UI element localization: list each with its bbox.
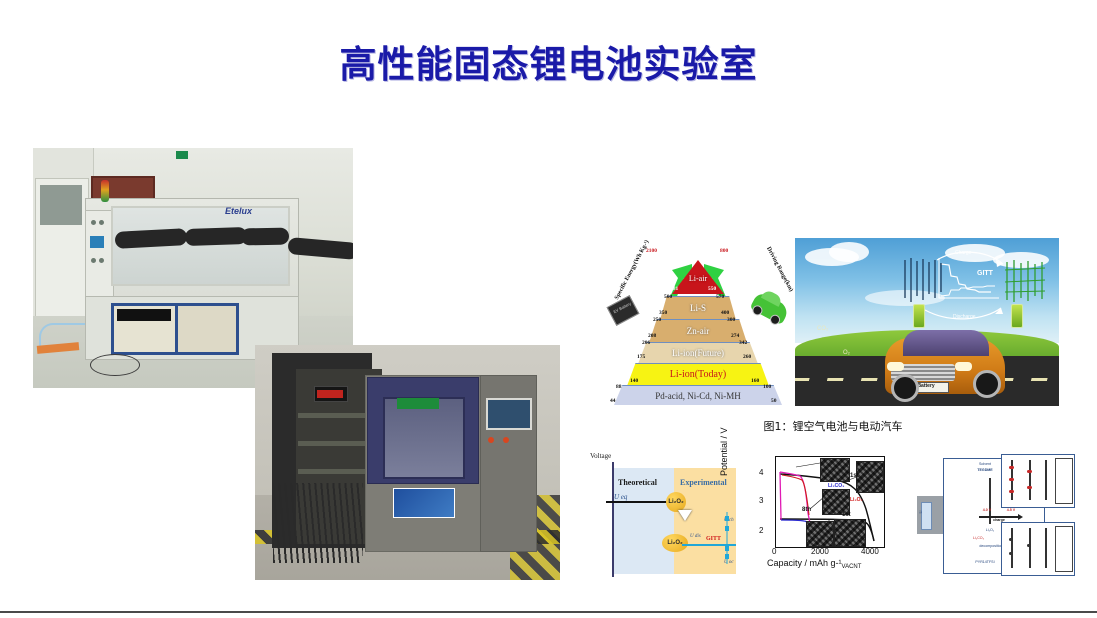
sem-inset <box>856 461 884 493</box>
deposit-marker <box>1009 538 1013 541</box>
slide-bottom-rule <box>0 611 1097 613</box>
voltage-high-label: 4.5 V <box>1001 508 1021 512</box>
pyramid-level-5: Pd-acid, Ni-Cd, Ni-MH <box>614 385 782 405</box>
knob-icon <box>91 258 96 263</box>
deposit-marker <box>1027 486 1032 489</box>
curve-label-1st: 1st <box>850 473 859 479</box>
level-0-right-value: 550 <box>708 286 716 292</box>
level-2-left-top: 250 <box>653 317 661 323</box>
charge-label: charge <box>979 518 1019 522</box>
pyramid-level-label-3: Li-ion(Future) <box>672 348 724 358</box>
plot-x-axis-label: Capacity / mAh g-¹VACNT <box>767 558 861 570</box>
slide-root: 高性能固态锂电池实验室 Etelux <box>0 0 1097 618</box>
level-5-right-top: 100 <box>763 384 771 390</box>
equipment-module <box>175 303 239 355</box>
li2o2-bubble-bottom: Li₂O₂ <box>662 534 688 552</box>
ueq-label: U eq <box>614 493 627 501</box>
deposit-marker <box>1009 478 1014 481</box>
level-4-left: 140 <box>630 378 638 384</box>
co2-label: CO₂ <box>817 326 828 332</box>
transition-arrow-icon <box>678 510 692 521</box>
pyramid-level-label-4: Li-ion(Today) <box>670 369 727 380</box>
deposit-marker <box>1027 544 1031 547</box>
glove-port <box>241 228 289 246</box>
plot-area: 1st 8th 1st Li₂CO₃ Li₂O₂ <box>775 456 885 548</box>
level-1-left-top: 500 <box>664 294 672 300</box>
plot-x-axis-main: Capacity / mAh g-¹ <box>767 558 842 568</box>
level-3-left-top: 206 <box>642 340 650 346</box>
deposit-marker <box>1027 470 1032 473</box>
potential-capacity-plot: Potential / V 4 3 2 0 2000 4000 Capacity… <box>745 448 900 580</box>
level-5-left-top: 88 <box>616 384 622 390</box>
level-5-right: 50 <box>771 398 777 404</box>
knob-icon <box>91 220 96 225</box>
equilibrium-line <box>606 501 672 503</box>
level-1-left: 350 <box>659 310 667 316</box>
nanotube-forest-green-icon <box>1003 260 1047 302</box>
power-cord <box>90 354 140 376</box>
level-3-left: 175 <box>637 354 645 360</box>
x-tick-2000: 2000 <box>811 547 829 556</box>
pyramid-level-label-0: Li-air <box>689 274 707 283</box>
cnt-rod <box>1029 528 1031 568</box>
cycle-mini-chart <box>1055 458 1073 504</box>
level-4-right: 160 <box>751 378 759 384</box>
nanotube-forest-icon <box>901 258 947 306</box>
x-tick-4000: 4000 <box>861 547 879 556</box>
chamber-touch-screen <box>486 398 532 430</box>
glovebox-display <box>90 236 104 248</box>
knob-icon <box>99 220 104 225</box>
voltage-low-label: 4.0 V <box>977 508 997 512</box>
test-chamber-photo <box>255 345 560 580</box>
species-label-li2o2: Li₂O₂ <box>850 497 863 503</box>
figure-caption: 图1：锂空气电池与电动汽车 <box>608 418 1058 434</box>
y-tick-2: 2 <box>759 526 763 535</box>
rack-display <box>314 386 348 402</box>
level-1-right: 400 <box>721 310 729 316</box>
car-cabin <box>903 330 989 356</box>
glove-port <box>185 227 248 246</box>
level-0-left-value: 581 <box>670 286 678 292</box>
glovebox-brand-label: Etelux <box>225 206 252 216</box>
battery-technology-pyramid: Li-air 2100 800 581 550 Li-S 500 570 350… <box>608 238 788 406</box>
mechanism-schematic-panel: Li Solvent TEGDME PYR14TFSI Li₂O₂ Li₂CO₃… <box>915 448 1075 580</box>
chamber-window <box>383 397 465 479</box>
curve-label-1st-2: 1st <box>842 512 851 518</box>
test-tube-icon <box>1011 304 1023 328</box>
plot-x-axis-sub: VACNT <box>842 564 862 570</box>
deposit-marker <box>1009 490 1014 493</box>
gitt-label: GITT <box>706 536 721 542</box>
voltage-axis-label: Voltage <box>590 452 611 460</box>
ev-illustration: Charge Discharge GITT <box>795 238 1059 406</box>
equipment-module <box>111 303 179 355</box>
cnt-rod <box>1045 528 1047 568</box>
y-tick-3: 3 <box>759 496 763 505</box>
level-3-right: 260 <box>743 354 751 360</box>
gitt-step-marks-icon <box>720 510 736 566</box>
level-5-left: 44 <box>610 398 616 404</box>
level-2-right: 274 <box>731 333 739 339</box>
cnt-rod <box>1029 460 1031 500</box>
species-label-li2co3: Li₂CO₃ <box>828 483 844 489</box>
wheel-icon <box>973 370 1001 398</box>
curve-label-8th: 8th <box>802 507 811 513</box>
page-title: 高性能固态锂电池实验室 <box>0 34 1097 88</box>
knob-icon <box>99 258 104 263</box>
headlight-icon <box>955 362 972 371</box>
voltage-axis <box>612 462 614 577</box>
experimental-label: Experimental <box>680 478 727 487</box>
level-2-right-top: 300 <box>727 317 735 323</box>
cloud-icon <box>829 242 869 262</box>
exit-sign-icon <box>176 151 188 159</box>
cycle-mini-chart <box>1055 526 1073 572</box>
level-3-right-top: 342 <box>739 340 747 346</box>
sem-inset <box>834 519 866 547</box>
pyramid-level-label-5: Pd-acid, Ni-Cd, Ni-MH <box>655 391 741 401</box>
electrode-block <box>921 502 932 530</box>
cnt-rod <box>1011 528 1013 568</box>
sem-inset <box>820 458 850 482</box>
apex-right-value: 800 <box>720 248 728 254</box>
cable-bundle <box>273 483 363 563</box>
pyramid-level-4: Li-ion(Today) <box>627 363 769 386</box>
plot-y-axis-label: Potential / V <box>719 427 729 476</box>
theoretical-label: Theoretical <box>618 478 657 487</box>
status-tower-light <box>101 180 109 202</box>
headlight-icon <box>887 362 904 371</box>
voltage-schematic-panel: Voltage Theoretical Experimental U eq Li… <box>590 448 740 580</box>
deposit-marker <box>1009 552 1013 555</box>
apex-left-value: 2100 <box>646 248 657 254</box>
level-2-left: 208 <box>648 333 656 339</box>
cnt-rod <box>1045 460 1047 500</box>
udis-label: U dis <box>690 534 701 539</box>
indicator-light <box>503 437 509 443</box>
ev-battery-label: EV Battery <box>612 301 631 314</box>
li2o2-bubble-top: Li₂O₂ <box>666 492 686 512</box>
chamber-info-plate <box>393 488 455 518</box>
indicator-light <box>488 437 494 443</box>
x-tick-0: 0 <box>772 547 776 556</box>
lab-cabinet <box>35 178 89 320</box>
electrode-left-label: Li <box>918 511 922 514</box>
test-tube-icon <box>913 304 925 328</box>
chamber-brand-label <box>397 398 439 409</box>
o2-label: O₂ <box>843 350 850 356</box>
sem-inset <box>806 521 834 547</box>
pyramid-level-label-2: Zn-air <box>687 326 710 336</box>
deposit-marker <box>1009 466 1014 469</box>
level-1-right-top: 570 <box>716 294 724 300</box>
y-tick-4: 4 <box>759 468 763 477</box>
wheel-icon <box>891 374 919 402</box>
pyramid-level-label-1: Li-S <box>690 303 706 313</box>
